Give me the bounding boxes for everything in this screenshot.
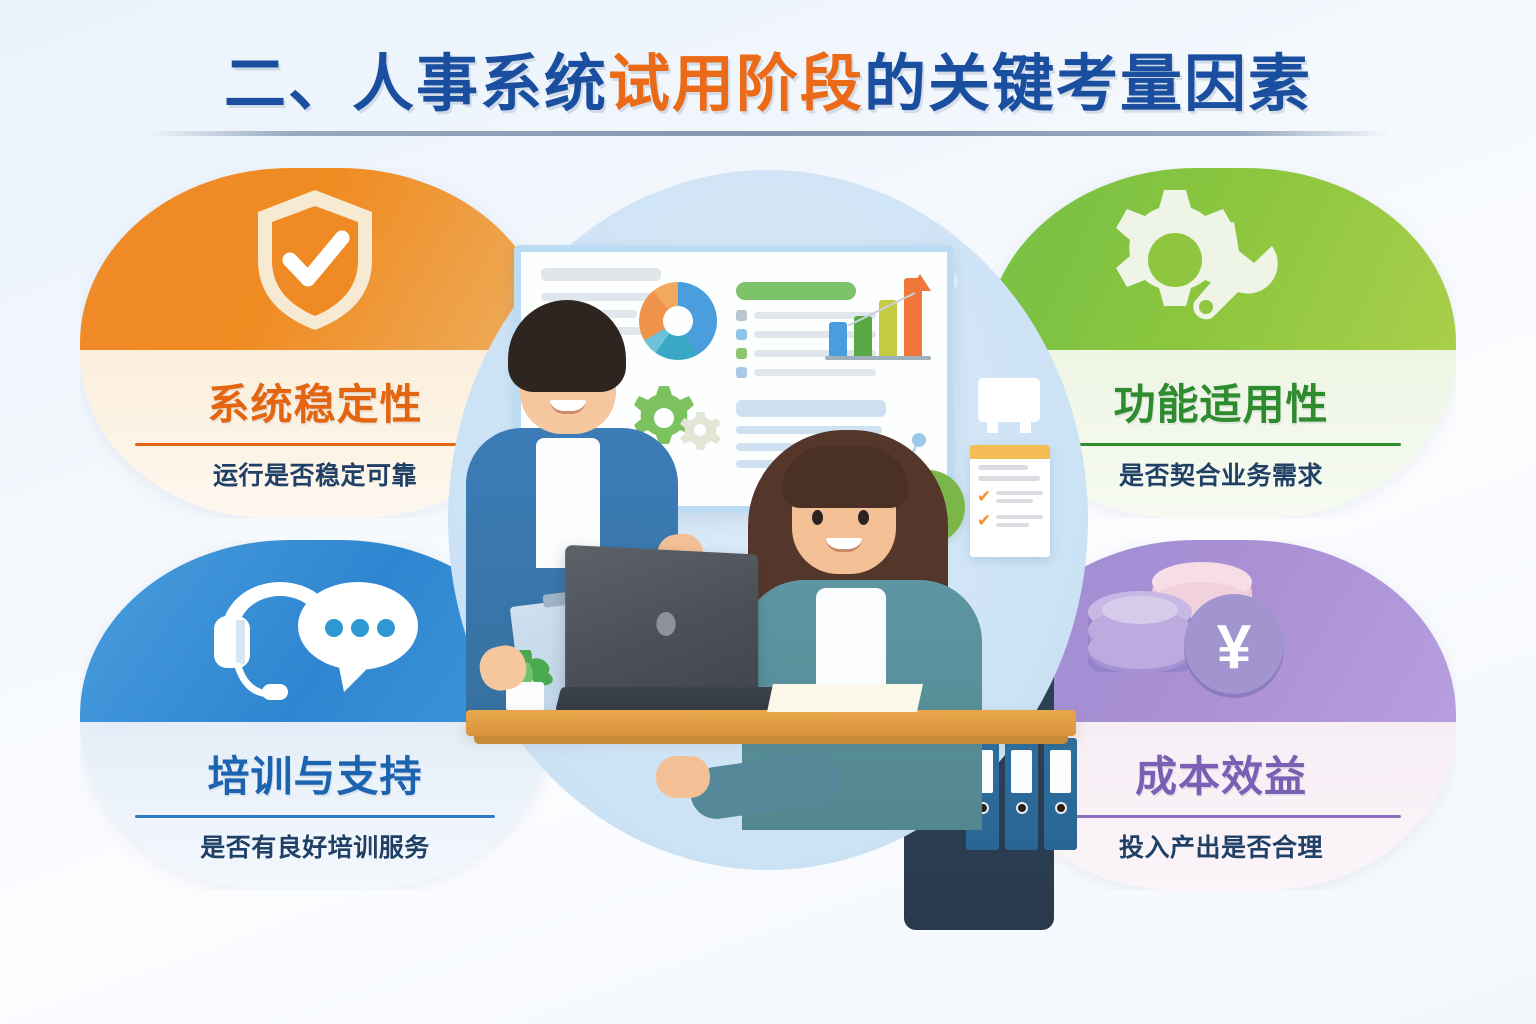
- shield-check-icon: [250, 186, 380, 334]
- page-title: 二、人事系统试用阶段的关键考量因素: [0, 52, 1536, 117]
- laptop-logo: [656, 612, 675, 636]
- woman-eye-right: [858, 510, 869, 525]
- bar-chart: [823, 274, 933, 364]
- woman-hair-front: [782, 446, 908, 508]
- board-subheading-placeholder: [736, 400, 886, 417]
- desk-edge: [474, 736, 1068, 744]
- title-suffix: 的关键考量因素: [864, 50, 1312, 119]
- woman-typing-hand: [656, 756, 710, 798]
- title-underline-rule: [146, 131, 1391, 136]
- man-hair: [508, 300, 626, 392]
- binder-label: [1050, 750, 1071, 793]
- legend-label-placeholder: [754, 369, 876, 376]
- title-highlight: 试用阶段: [608, 50, 864, 119]
- wooden-desk: [466, 710, 1076, 736]
- legend-swatch: [736, 348, 747, 359]
- legend-item: [736, 367, 876, 378]
- man-smile: [550, 400, 586, 414]
- laptop-screen: [565, 545, 758, 703]
- board-heading-placeholder: [541, 268, 661, 281]
- title-prefix: 二、人事系统: [224, 50, 608, 119]
- binder: [1044, 738, 1077, 850]
- binder-ring: [1055, 802, 1067, 814]
- woman-eye-left: [812, 510, 823, 525]
- center-illustration: ✔ ✔: [418, 150, 1118, 910]
- svg-text:¥: ¥: [1217, 613, 1252, 682]
- page-header: 二、人事系统试用阶段的关键考量因素: [0, 52, 1536, 136]
- legend-swatch: [736, 367, 747, 378]
- paper-sheet: [767, 684, 923, 712]
- banner-shape: [978, 378, 1040, 422]
- bar-chart-axis: [825, 356, 931, 360]
- legend-swatch: [736, 310, 747, 321]
- headset-chat-icon: [192, 554, 432, 704]
- legend-swatch: [736, 329, 747, 340]
- trend-arrow-icon: [909, 274, 931, 291]
- bar-1: [829, 322, 847, 356]
